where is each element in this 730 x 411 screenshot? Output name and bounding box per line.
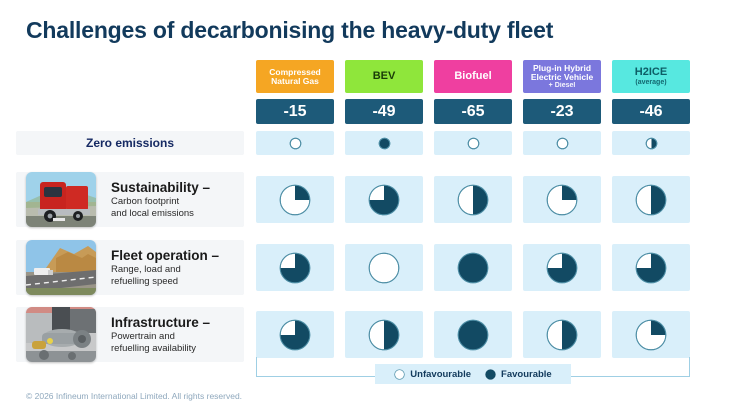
fuel-header-3[interactable]: Plug-in HybridElectric Vehicle+ Diesel	[523, 60, 601, 93]
score-badge-2: -65	[434, 99, 512, 124]
rating-cell-sustainability-3[interactable]	[523, 176, 601, 223]
rating-cell-infrastructure-4[interactable]	[612, 311, 690, 358]
fuel-header-line: BEV	[373, 71, 396, 83]
fuel-header-line: Natural Gas	[271, 77, 319, 86]
fuel-column-3: Plug-in HybridElectric Vehicle+ Diesel-2…	[523, 60, 601, 124]
harvey-ball-icon	[546, 252, 578, 284]
circle-full-icon	[485, 369, 496, 380]
fuel-column-2: Biofuel-65	[434, 60, 512, 124]
criterion-title-sustainability: Sustainability –	[111, 179, 210, 195]
rating-cell-infrastructure-0[interactable]	[256, 311, 334, 358]
rating-cell-sustainability-1[interactable]	[345, 176, 423, 223]
harvey-ball-icon	[645, 137, 658, 150]
fuel-header-sub: + Diesel	[549, 82, 576, 89]
legend: Unfavourable Favourable	[375, 364, 571, 384]
harvey-ball-icon	[378, 137, 391, 150]
harvey-ball-icon	[457, 252, 489, 284]
rating-cell-zero-emissions-0[interactable]	[256, 131, 334, 155]
harvey-ball-icon	[635, 184, 667, 216]
harvey-ball-icon	[635, 252, 667, 284]
rating-cell-sustainability-2[interactable]	[434, 176, 512, 223]
fuel-header-0[interactable]: CompressedNatural Gas	[256, 60, 334, 93]
fuel-column-1: BEV-49	[345, 60, 423, 124]
legend-label-favourable: Favourable	[501, 369, 552, 380]
harvey-ball-icon	[635, 319, 667, 351]
rating-cell-fleet-operation-3[interactable]	[523, 244, 601, 291]
criterion-label-zero-emissions: Zero emissions	[86, 136, 174, 150]
page-title: Challenges of decarbonising the heavy-du…	[26, 17, 553, 44]
row-thumbnail-infrastructure	[26, 307, 96, 362]
rating-cell-infrastructure-1[interactable]	[345, 311, 423, 358]
rating-cell-fleet-operation-1[interactable]	[345, 244, 423, 291]
rating-cell-sustainability-0[interactable]	[256, 176, 334, 223]
fuel-header-2[interactable]: Biofuel	[434, 60, 512, 93]
criterion-text-infrastructure: Infrastructure – Powertrain andrefuellin…	[111, 314, 210, 354]
circle-empty-icon	[394, 369, 405, 380]
fuel-column-4: H2ICE(average)-46	[612, 60, 690, 124]
harvey-ball-icon	[457, 319, 489, 351]
harvey-ball-icon	[457, 184, 489, 216]
rating-cell-fleet-operation-2[interactable]	[434, 244, 512, 291]
fuel-header-line: H2ICE	[635, 67, 667, 79]
score-badge-3: -23	[523, 99, 601, 124]
rating-cell-zero-emissions-1[interactable]	[345, 131, 423, 155]
harvey-ball-icon	[546, 319, 578, 351]
fuel-header-line: Electric Vehicle	[531, 73, 593, 82]
rating-cell-zero-emissions-4[interactable]	[612, 131, 690, 155]
criterion-title-infrastructure: Infrastructure –	[111, 314, 210, 330]
harvey-ball-icon	[546, 184, 578, 216]
legend-item-favourable: Favourable	[485, 369, 552, 380]
criterion-row-zero-emissions: Zero emissions	[16, 131, 244, 155]
score-badge-4: -46	[612, 99, 690, 124]
rating-cell-sustainability-4[interactable]	[612, 176, 690, 223]
comparison-matrix: CompressedNatural Gas-15BEV-49Biofuel-65…	[0, 60, 730, 360]
harvey-ball-icon	[368, 319, 400, 351]
harvey-ball-icon	[467, 137, 480, 150]
row-thumbnail-sustainability	[26, 172, 96, 227]
harvey-ball-icon	[368, 184, 400, 216]
harvey-ball-icon	[279, 184, 311, 216]
criterion-subtitle-fleet-operation: Range, load andrefuelling speed	[111, 264, 219, 288]
criterion-subtitle-infrastructure: Powertrain andrefuelling availability	[111, 331, 210, 355]
rating-cell-infrastructure-2[interactable]	[434, 311, 512, 358]
harvey-ball-icon	[556, 137, 569, 150]
harvey-ball-icon	[368, 252, 400, 284]
fuel-header-1[interactable]: BEV	[345, 60, 423, 93]
rating-cell-infrastructure-3[interactable]	[523, 311, 601, 358]
fuel-header-line: Biofuel	[454, 71, 491, 83]
criterion-text-sustainability: Sustainability – Carbon footprintand loc…	[111, 179, 210, 219]
legend-item-unfavourable: Unfavourable	[394, 369, 471, 380]
criterion-subtitle-sustainability: Carbon footprintand local emissions	[111, 196, 210, 220]
harvey-ball-icon	[279, 252, 311, 284]
criterion-title-fleet-operation: Fleet operation –	[111, 247, 219, 263]
rating-cell-fleet-operation-4[interactable]	[612, 244, 690, 291]
rating-cell-zero-emissions-3[interactable]	[523, 131, 601, 155]
rating-cell-fleet-operation-0[interactable]	[256, 244, 334, 291]
harvey-ball-icon	[289, 137, 302, 150]
row-thumbnail-fleet-operation	[26, 240, 96, 295]
criterion-text-fleet-operation: Fleet operation – Range, load andrefuell…	[111, 247, 219, 287]
copyright-footer: © 2026 Infineum International Limited. A…	[26, 391, 242, 401]
rating-cell-zero-emissions-2[interactable]	[434, 131, 512, 155]
legend-label-unfavourable: Unfavourable	[410, 369, 471, 380]
score-badge-0: -15	[256, 99, 334, 124]
fuel-header-sub: (average)	[635, 79, 666, 86]
fuel-header-4[interactable]: H2ICE(average)	[612, 60, 690, 93]
fuel-column-0: CompressedNatural Gas-15	[256, 60, 334, 124]
harvey-ball-icon	[279, 319, 311, 351]
score-badge-1: -49	[345, 99, 423, 124]
